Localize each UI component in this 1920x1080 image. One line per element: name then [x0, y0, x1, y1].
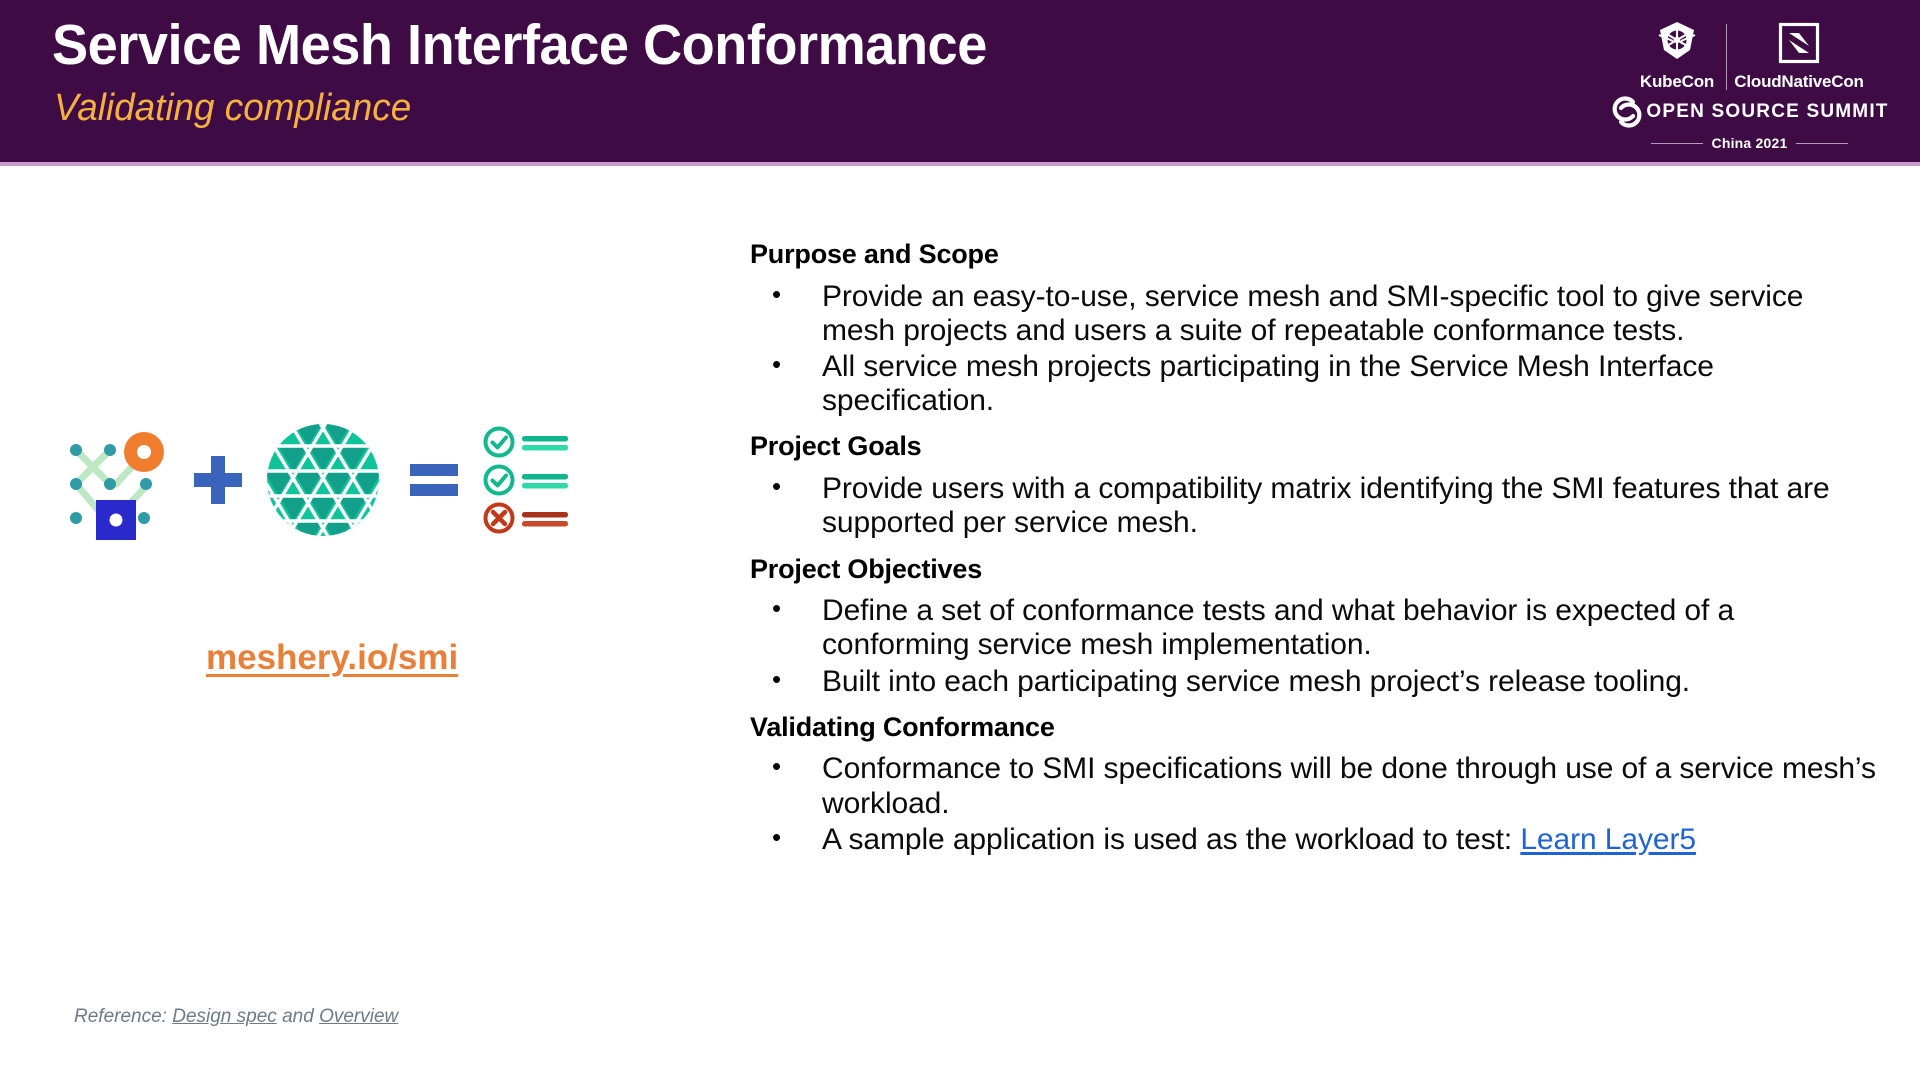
- bullet-list: Conformance to SMI specifications will b…: [750, 752, 1880, 857]
- bullet-item-with-link: A sample application is used as the work…: [750, 823, 1880, 857]
- section-project-goals: Project Goals Provide users with a compa…: [750, 432, 1880, 540]
- bullet-item: Provide an easy-to-use, service mesh and…: [750, 280, 1880, 348]
- section-heading: Project Goals: [750, 432, 1880, 462]
- conformance-equation-graphic: [58, 405, 658, 555]
- cloudnativecon-logo: CloudNativeCon: [1733, 10, 1865, 92]
- open-source-summit-s-icon: [1610, 94, 1644, 130]
- learn-layer5-link[interactable]: Learn Layer5: [1520, 823, 1696, 856]
- check-row-1: [486, 429, 569, 456]
- check-row-2: [486, 467, 569, 494]
- bullet-item: Conformance to SMI specifications will b…: [750, 752, 1880, 820]
- smi-mesh-circle-icon: [264, 421, 382, 539]
- reference-conjunction: and: [277, 1006, 319, 1027]
- year-rule-right: [1796, 143, 1848, 144]
- plus-sign-icon: [190, 452, 246, 508]
- logo-top-row: KubeCon CloudNativeCon: [1627, 10, 1872, 92]
- section-validating-conformance: Validating Conformance Conformance to SM…: [750, 713, 1880, 857]
- kubernetes-helm-icon: [1653, 18, 1701, 68]
- bullet-item: Define a set of conformance tests and wh…: [750, 594, 1880, 662]
- section-heading: Purpose and Scope: [750, 240, 1880, 270]
- open-source-summit-label: OPEN SOURCE SUMMIT: [1646, 101, 1888, 123]
- section-project-objectives: Project Objectives Define a set of confo…: [750, 555, 1880, 699]
- cloudnativecon-label: CloudNativeCon: [1734, 72, 1863, 92]
- fail-row-3: [486, 505, 569, 532]
- bullet-item: All service mesh projects participating …: [750, 350, 1880, 418]
- year-rule-left: [1651, 143, 1703, 144]
- logo-divider: [1726, 24, 1727, 90]
- open-source-summit-row: OPEN SOURCE SUMMIT: [1627, 94, 1872, 130]
- meshery-smi-link[interactable]: meshery.io/smi: [206, 638, 458, 678]
- cncf-square-icon: [1778, 18, 1820, 68]
- bullet-item: Built into each participating service me…: [750, 665, 1880, 699]
- page-title: Service Mesh Interface Conformance: [52, 14, 987, 77]
- conference-year-label: China 2021: [1712, 135, 1788, 151]
- bullet-list: Provide users with a compatibility matri…: [750, 472, 1880, 540]
- conference-year-row: China 2021: [1627, 135, 1872, 151]
- header-accent-rule: [0, 162, 1920, 166]
- section-purpose-and-scope: Purpose and Scope Provide an easy-to-use…: [750, 240, 1880, 418]
- conference-logo-lockup: KubeCon CloudNativeCon OPEN SOURCE SUMMI…: [1627, 10, 1872, 150]
- bullet-item: Provide users with a compatibility matri…: [750, 472, 1880, 540]
- bullet-text: A sample application is used as the work…: [822, 823, 1520, 856]
- section-heading: Project Objectives: [750, 555, 1880, 585]
- conformance-checklist-icon: [482, 426, 572, 534]
- section-heading: Validating Conformance: [750, 713, 1880, 743]
- bullet-list: Provide an easy-to-use, service mesh and…: [750, 280, 1880, 419]
- design-spec-link[interactable]: Design spec: [172, 1006, 277, 1027]
- kubecon-logo: KubeCon: [1634, 10, 1720, 92]
- overview-link[interactable]: Overview: [319, 1006, 398, 1027]
- meshery-logo-icon: [58, 420, 178, 540]
- kubecon-label: KubeCon: [1640, 72, 1714, 92]
- bullet-list: Define a set of conformance tests and wh…: [750, 594, 1880, 699]
- reference-prefix: Reference:: [74, 1006, 172, 1027]
- page-subtitle: Validating compliance: [54, 88, 411, 130]
- content-column: Purpose and Scope Provide an easy-to-use…: [750, 240, 1880, 871]
- reference-footnote: Reference: Design spec and Overview: [74, 1006, 398, 1028]
- equals-sign-icon: [408, 459, 460, 501]
